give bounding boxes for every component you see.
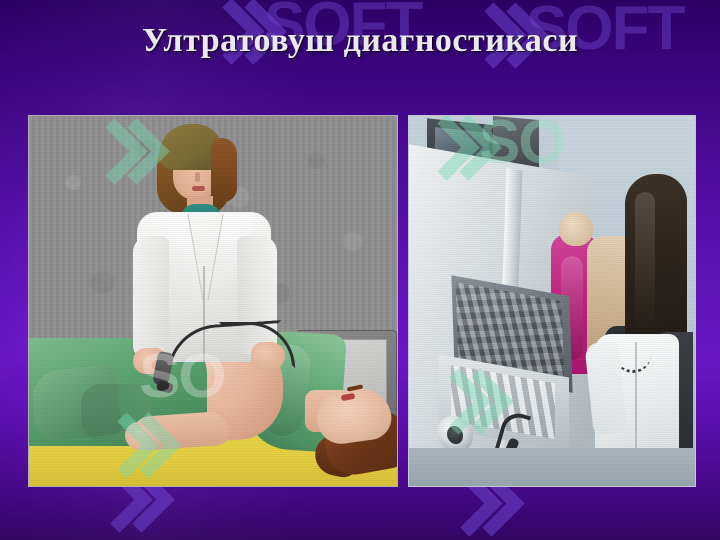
presentation-slide: SOFT SOFT Ултратовуш диагностикаси	[0, 0, 720, 540]
doctor-nose	[195, 172, 200, 182]
right-photograph-panel[interactable]: SO	[408, 115, 696, 487]
doctor-mouth	[192, 186, 205, 191]
sonographer-hair-highlight	[635, 192, 655, 332]
doctor-hair-side	[211, 138, 237, 202]
left-illustration-panel[interactable]: SO	[28, 115, 398, 487]
doctor-arm-left	[133, 236, 169, 358]
doctor-hand-right	[251, 342, 285, 370]
page-title: Ултратовуш диагностикаси	[0, 22, 720, 60]
patient-hand	[125, 422, 161, 450]
patient-head	[559, 212, 593, 246]
clinic-floor	[409, 448, 696, 487]
